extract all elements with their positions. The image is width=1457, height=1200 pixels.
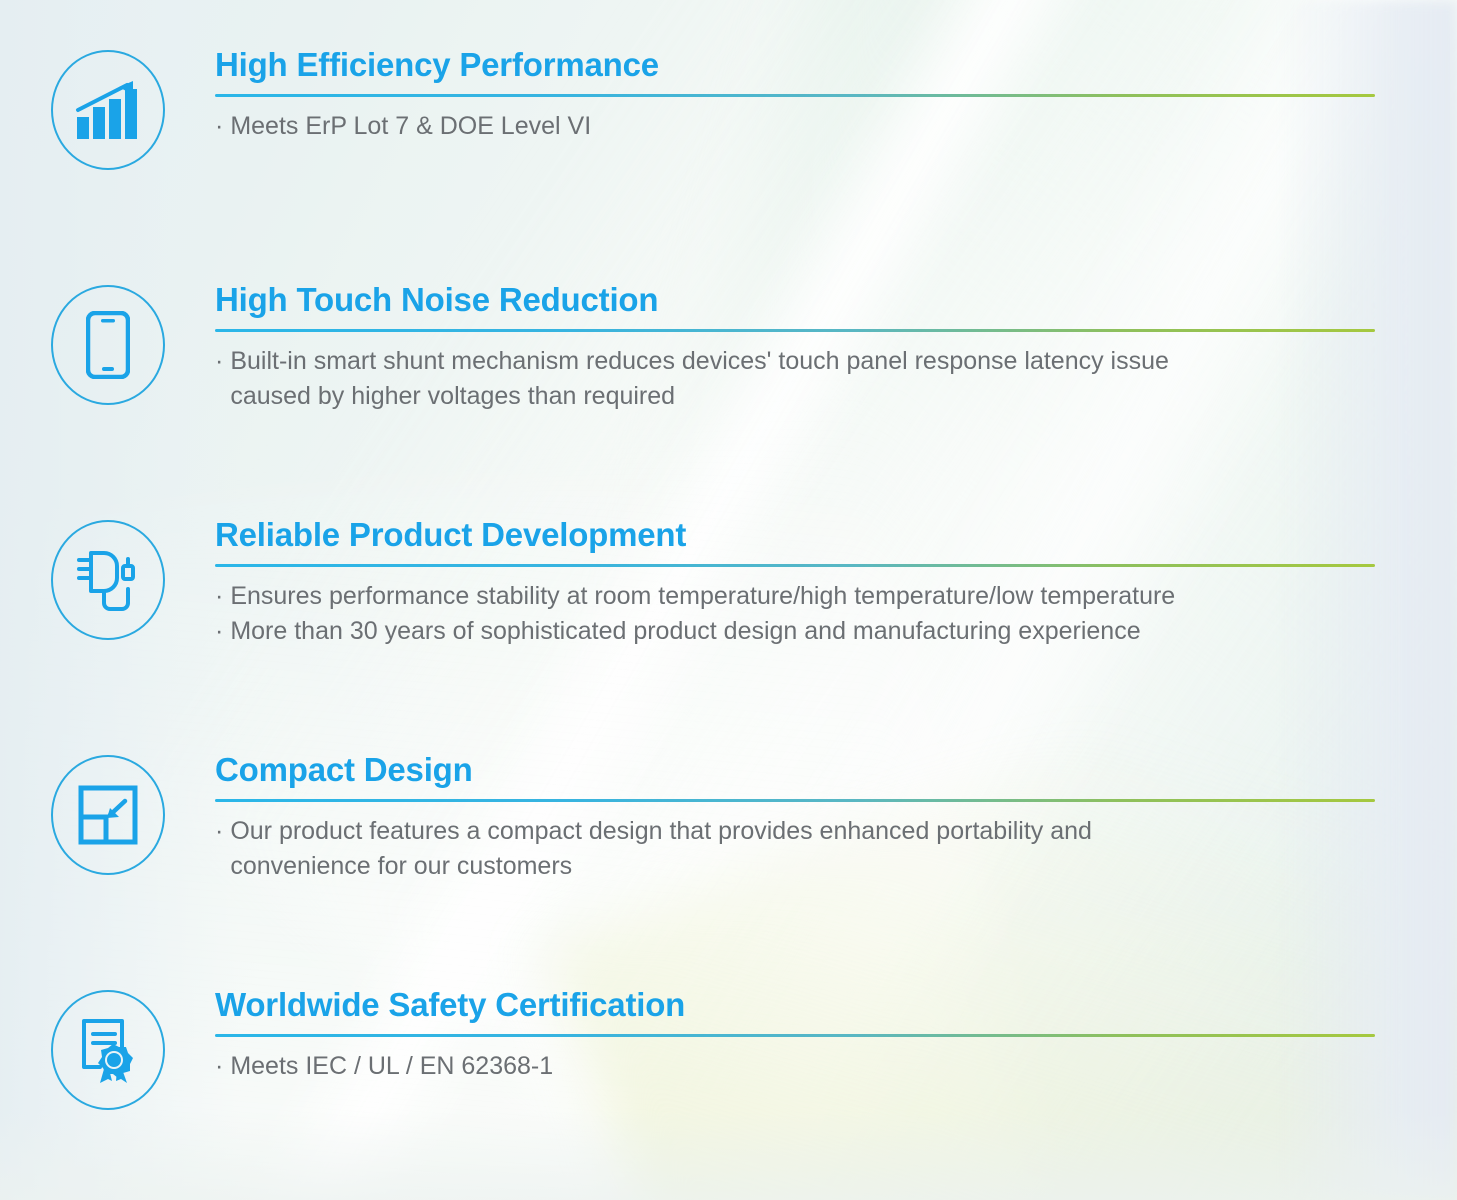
icon-circle-frame: [51, 520, 165, 640]
feature-list: High Efficiency Performance · Meets ErP …: [0, 0, 1457, 1200]
certificate-award-icon: [78, 1017, 138, 1083]
feature-item-worldwide-safety-certification: Worldwide Safety Certification · Meets I…: [0, 988, 1457, 1110]
smartphone-icon: [86, 311, 130, 379]
feature-text-block: Reliable Product Development · Ensures p…: [215, 518, 1457, 650]
feature-text-block: High Touch Noise Reduction · Built-in sm…: [215, 283, 1457, 415]
feature-divider-rule: [215, 799, 1375, 802]
feature-bullet-list: · Ensures performance stability at room …: [215, 579, 1375, 650]
feature-item-high-efficiency-performance: High Efficiency Performance · Meets ErP …: [0, 48, 1457, 170]
feature-bullet-line: · Ensures performance stability at room …: [215, 579, 1375, 615]
feature-title: High Touch Noise Reduction: [215, 283, 1375, 318]
feature-icon-container: [0, 283, 215, 405]
feature-title: Reliable Product Development: [215, 518, 1375, 553]
icon-circle-frame: [51, 285, 165, 405]
icon-circle-frame: [51, 990, 165, 1110]
feature-text-block: Compact Design · Our product features a …: [215, 753, 1457, 885]
icon-circle-frame: [51, 755, 165, 875]
feature-bullet-line: · Meets IEC / UL / EN 62368-1: [215, 1049, 1375, 1085]
feature-item-high-touch-noise-reduction: High Touch Noise Reduction · Built-in sm…: [0, 283, 1457, 415]
bullet-marker: ·: [215, 109, 223, 145]
feature-bullet-line: · Our product features a compact design …: [215, 814, 1375, 850]
feature-bullet-list: · Meets ErP Lot 7 & DOE Level VI: [215, 109, 1375, 145]
bullet-marker: ·: [215, 614, 223, 650]
bullet-marker: ·: [215, 1049, 223, 1085]
feature-text-block: High Efficiency Performance · Meets ErP …: [215, 48, 1457, 144]
bar-chart-growth-icon: [75, 79, 141, 141]
feature-bullet-line: · Built-in smart shunt mechanism reduces…: [215, 344, 1375, 380]
bullet-marker: ·: [215, 814, 223, 850]
feature-title: High Efficiency Performance: [215, 48, 1375, 83]
bullet-text: Meets IEC / UL / EN 62368-1: [230, 1049, 1375, 1085]
feature-bullet-list: · Our product features a compact design …: [215, 814, 1375, 885]
bullet-text: convenience for our customers: [230, 849, 1375, 885]
feature-icon-container: [0, 753, 215, 875]
bullet-text: caused by higher voltages than required: [230, 379, 1375, 415]
feature-icon-container: [0, 988, 215, 1110]
feature-bullet-line-continued: · convenience for our customers: [215, 849, 1375, 885]
feature-bullet-line: · More than 30 years of sophisticated pr…: [215, 614, 1375, 650]
feature-highlights-page: High Efficiency Performance · Meets ErP …: [0, 0, 1457, 1200]
bullet-text: Built-in smart shunt mechanism reduces d…: [230, 344, 1375, 380]
feature-text-block: Worldwide Safety Certification · Meets I…: [215, 988, 1457, 1084]
feature-bullet-list: · Meets IEC / UL / EN 62368-1: [215, 1049, 1375, 1085]
feature-divider-rule: [215, 329, 1375, 332]
feature-divider-rule: [215, 1034, 1375, 1037]
feature-icon-container: [0, 48, 215, 170]
feature-divider-rule: [215, 564, 1375, 567]
feature-item-reliable-product-development: Reliable Product Development · Ensures p…: [0, 518, 1457, 650]
feature-divider-rule: [215, 94, 1375, 97]
bullet-text: More than 30 years of sophisticated prod…: [230, 614, 1375, 650]
feature-bullet-line-continued: · caused by higher voltages than require…: [215, 379, 1375, 415]
feature-title: Compact Design: [215, 753, 1375, 788]
bullet-marker: ·: [215, 579, 223, 615]
feature-bullet-line: · Meets ErP Lot 7 & DOE Level VI: [215, 109, 1375, 145]
bullet-marker: ·: [215, 344, 223, 380]
bullet-text: Meets ErP Lot 7 & DOE Level VI: [230, 109, 1375, 145]
power-adapter-icon: [73, 547, 143, 613]
shrink-resize-icon: [77, 784, 139, 846]
feature-bullet-list: · Built-in smart shunt mechanism reduces…: [215, 344, 1375, 415]
feature-icon-container: [0, 518, 215, 640]
bullet-text: Ensures performance stability at room te…: [230, 579, 1375, 615]
bullet-text: Our product features a compact design th…: [230, 814, 1375, 850]
icon-circle-frame: [51, 50, 165, 170]
feature-item-compact-design: Compact Design · Our product features a …: [0, 753, 1457, 885]
feature-title: Worldwide Safety Certification: [215, 988, 1375, 1023]
